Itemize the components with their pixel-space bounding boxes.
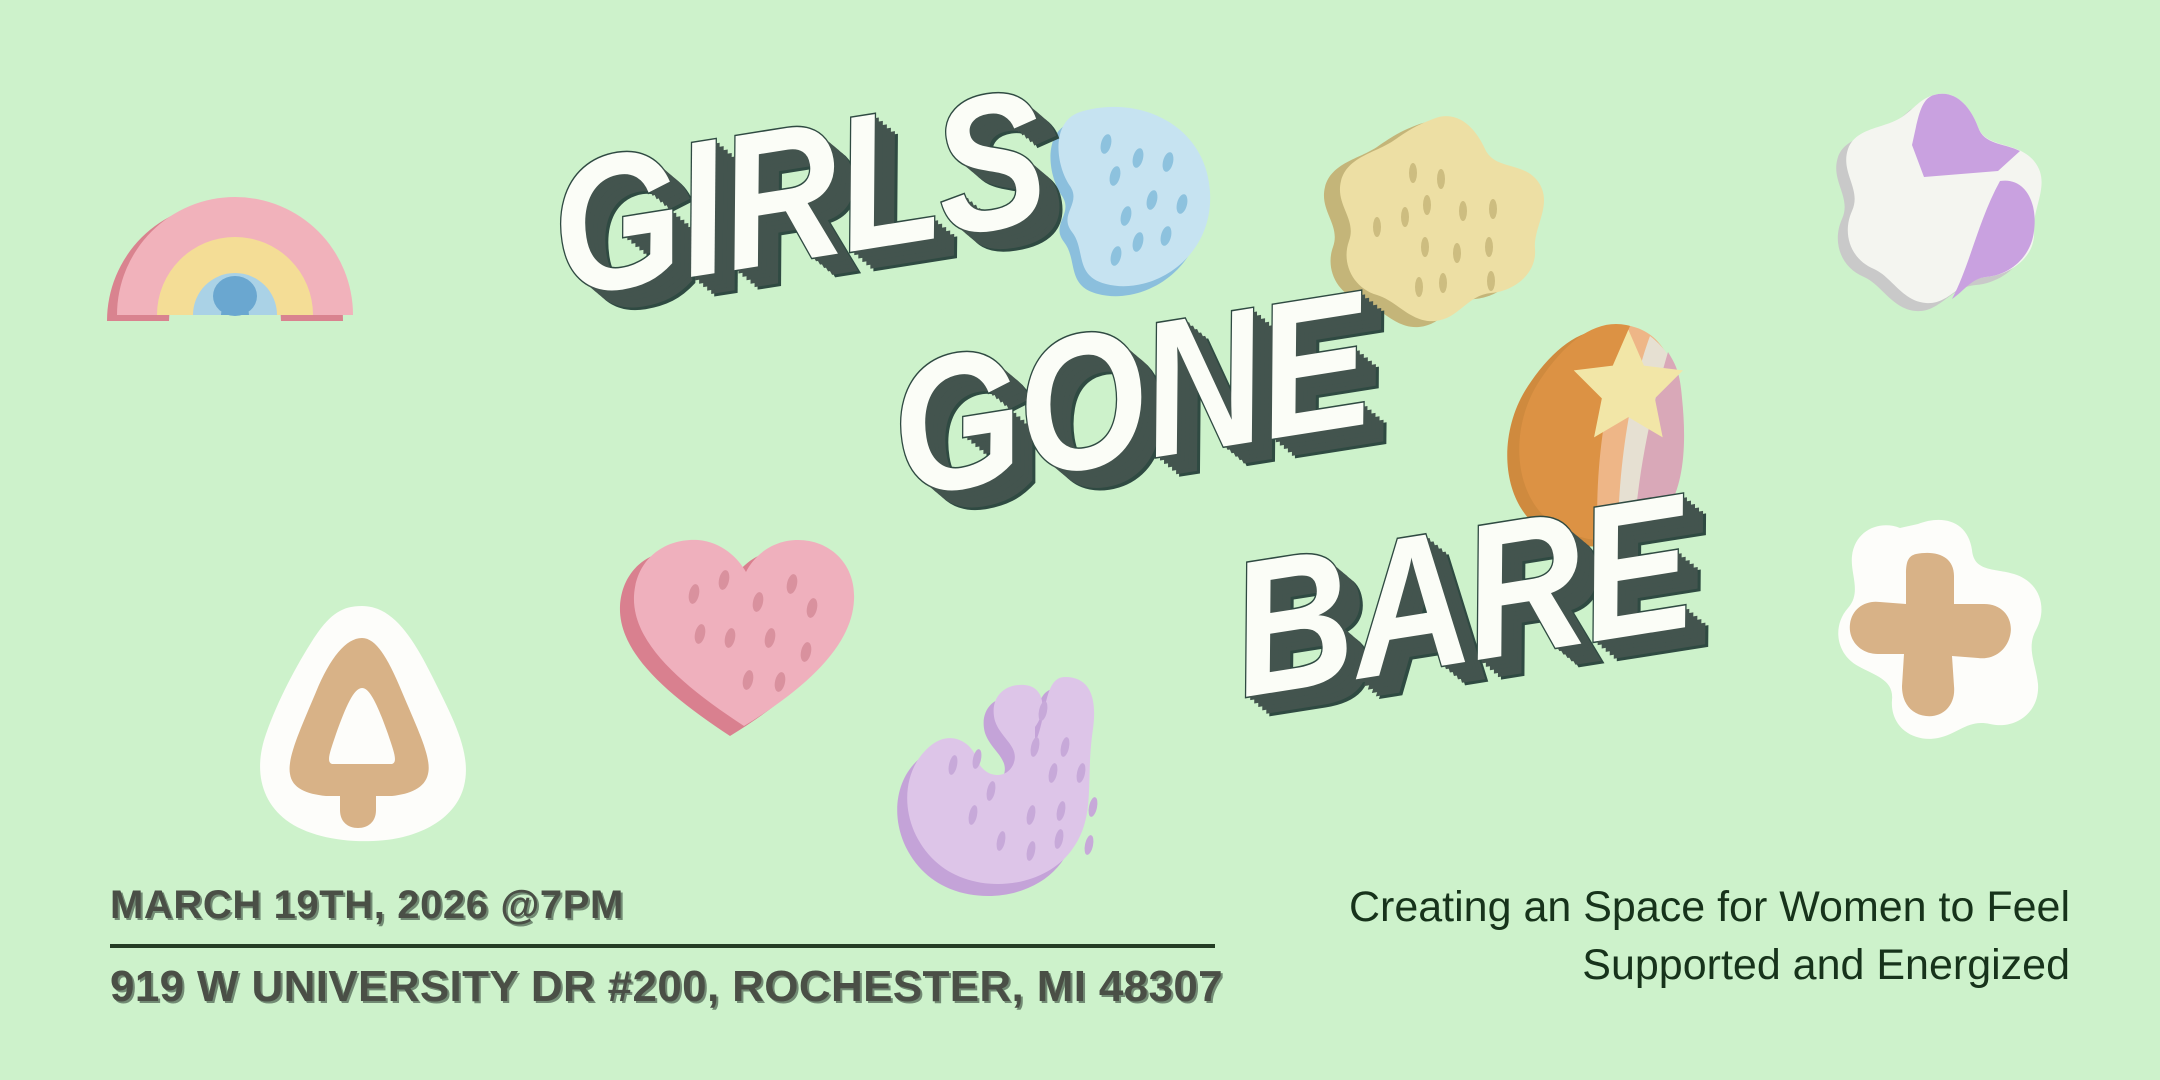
headline-line-2: GONE [880, 275, 1378, 513]
divider-rule [110, 944, 1215, 948]
tagline-line-1: Creating an Space for Women to Feel [1290, 878, 2070, 936]
event-date-time: MARCH 19TH, 2026 @7PM [110, 883, 1220, 928]
event-banner: GIRLS GONE BARE MARCH 19TH, 2026 @7PM 91… [0, 0, 2160, 1080]
headline-line-1: GIRLS [540, 73, 1054, 313]
tagline-line-2: Supported and Energized [1290, 936, 2070, 994]
event-details-block: MARCH 19TH, 2026 @7PM 919 W UNIVERSITY D… [110, 883, 1220, 1012]
event-tagline: Creating an Space for Women to Feel Supp… [1290, 878, 2070, 994]
headline-line-3: BARE [1220, 478, 1700, 713]
event-address: 919 W UNIVERSITY DR #200, ROCHESTER, MI … [110, 962, 1220, 1012]
